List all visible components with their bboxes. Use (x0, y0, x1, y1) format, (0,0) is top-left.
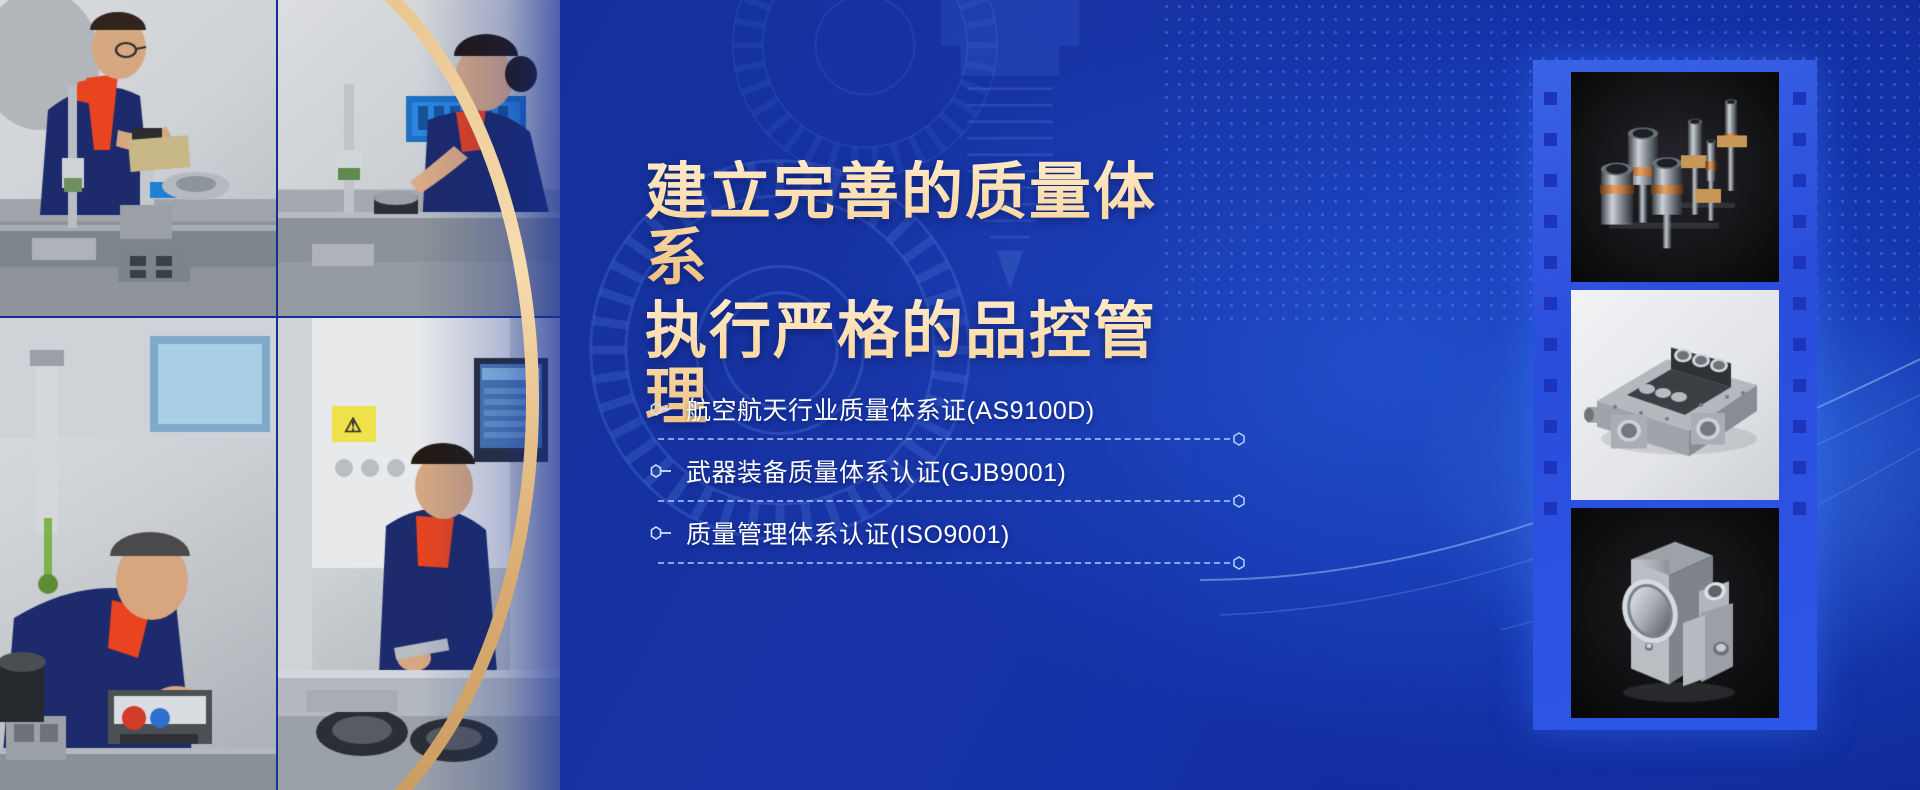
certification-label: 武器装备质量体系认证(GJB9001) (686, 453, 1066, 489)
photo-technician-measuring (278, 0, 560, 316)
list-item[interactable]: 质量管理体系认证(ISO9001) (650, 502, 1190, 564)
connector-node-icon (1232, 432, 1246, 446)
photo-collage (0, 0, 560, 790)
hex-node-icon (650, 525, 672, 541)
cert-divider (658, 562, 1230, 564)
film-perforations-right (1793, 92, 1806, 515)
certification-label: 质量管理体系认证(ISO9001) (686, 515, 1010, 551)
certification-label: 航空航天行业质量体系证(AS9100D) (686, 391, 1095, 427)
photo-inspector-height-gauge (0, 0, 276, 316)
product-precision-shafts[interactable] (1571, 72, 1779, 282)
product-bearing-block[interactable] (1571, 508, 1779, 718)
hex-node-icon (650, 463, 672, 479)
hero-banner: 建立完善的质量体系 执行严格的品控管理 航空航天行业质量体系证(AS9100D)… (0, 0, 1920, 790)
connector-node-icon (1232, 556, 1246, 570)
headline-line-1: 建立完善的质量体系 (645, 160, 1205, 291)
film-perforations-left (1544, 92, 1557, 515)
photo-cmm-operator (0, 318, 276, 790)
product-aluminum-housing[interactable] (1571, 290, 1779, 500)
hex-node-icon (650, 401, 672, 417)
photo-machine-operator (278, 318, 560, 790)
certification-list: 航空航天行业质量体系证(AS9100D) 武器装备质量体系认证(GJB9001)… (650, 378, 1190, 564)
product-film-strip (1533, 60, 1817, 730)
connector-node-icon (1232, 494, 1246, 508)
list-item[interactable]: 航空航天行业质量体系证(AS9100D) (650, 378, 1190, 440)
list-item[interactable]: 武器装备质量体系认证(GJB9001) (650, 440, 1190, 502)
